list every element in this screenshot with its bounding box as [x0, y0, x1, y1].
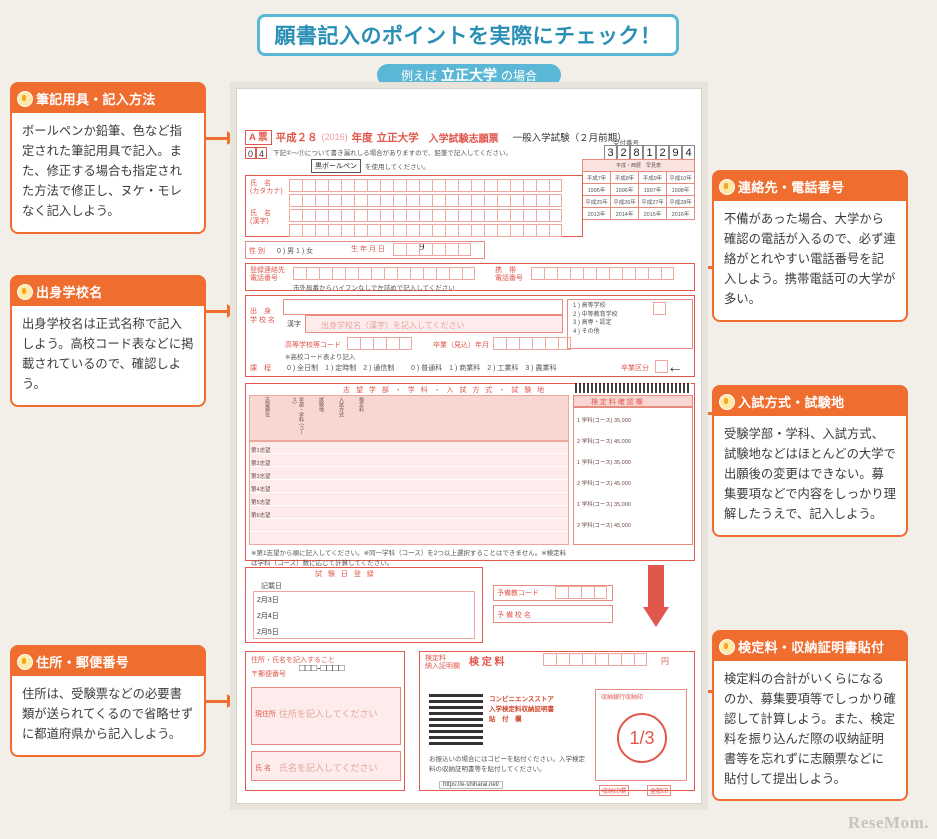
- note-exam-fee-body: 検定料の合計がいくらになるのか、募集要項等でしっかり確認して計算しよう。また、検…: [714, 661, 906, 799]
- page-title-banner: 願書記入のポイントを実際にチェック！: [257, 14, 679, 56]
- dept-options: 0 ) 普通科 1 ) 商業科 2 ) 工業科 3 ) 農業科: [411, 363, 556, 373]
- stamp-foot-left: 収納印欄: [599, 785, 629, 796]
- connector-writing-tools: [206, 137, 228, 140]
- schedule-grid: [253, 591, 475, 639]
- name-kanji-cells-2: [289, 224, 562, 237]
- receipt-digit: 3: [604, 145, 617, 160]
- note-school-name-heading: 出身学校名: [36, 285, 103, 300]
- name-placeholder: 氏名を記入してください: [279, 761, 377, 774]
- form-code-cells: 0 4: [245, 147, 267, 159]
- receipt-digit: 9: [669, 145, 682, 160]
- area-code-label: 予備教コード: [497, 588, 539, 598]
- selection-header-dept: 学部・学科 (コース): [271, 397, 305, 439]
- school-kind-options: 1 ) 高等学校2 ) 中等教育学校3 ) 高専・認定4 ) その他: [573, 302, 618, 337]
- form-ticket-label: A 票: [245, 130, 272, 145]
- era-cell: 2014年: [611, 208, 639, 220]
- note-school-name-header: 出身学校名: [12, 277, 204, 306]
- note-exam-method-header: 入試方式・試験地: [714, 387, 906, 416]
- name-kana-cells: [289, 179, 562, 192]
- form-western-year: (2016): [322, 132, 348, 142]
- conveni-note: お振込いの場合にはコピーを貼付ください。入学検定料の収納証明書等を貼付してくださ…: [429, 755, 589, 775]
- note-exam-fee: 検定料・収納証明書貼付 検定料の合計がいくらになるのか、募集要項等でしっかり確認…: [712, 630, 908, 801]
- era-year-table: 平成・西暦 早見表 平成7年平成8年平成9年平成10年 1995年1996年19…: [582, 159, 695, 220]
- bulb-icon: [719, 639, 735, 655]
- name-kanji-label: 氏 名(漢字): [250, 210, 284, 227]
- stamp-foot-right: 金額印: [647, 785, 671, 796]
- gender-options: 0 ) 男 1 ) 女: [277, 246, 313, 256]
- note-exam-method-heading: 入試方式・試験地: [738, 395, 844, 410]
- zip-mask: □□□-□□□□: [299, 663, 345, 674]
- selection-header-cells: 志望順位 学部・学科 (コース) 試験地 入試方式 検定料: [251, 397, 569, 439]
- note-address-zip-header: 住所・郵便番号: [12, 647, 204, 676]
- flow-arrow-icon: [643, 565, 669, 627]
- note-exam-fee-heading: 検定料・収納証明書貼付: [738, 640, 884, 655]
- era-cell: 平成25年: [583, 196, 611, 208]
- name-kana-label: 氏 名(カタカナ): [250, 180, 284, 197]
- era-cell: 平成10年: [667, 172, 695, 184]
- receipt-digit: 8: [630, 145, 643, 160]
- bulb-icon: [719, 394, 735, 410]
- fee-row: 1 学科(コース) 35,000: [577, 411, 691, 432]
- gender-label: 性 別: [249, 246, 265, 256]
- schedule-date: 2月5日: [257, 625, 279, 641]
- address-placeholder: 住所を記入してください: [279, 707, 377, 720]
- school-kind-cells: [653, 302, 666, 315]
- note-address-zip-body: 住所は、受験票などの必要書類が送られてくるので省略せずに都道府県から記入しよう。: [12, 676, 204, 755]
- phone-cells: [293, 267, 475, 280]
- page-title: 願書記入のポイントを実際にチェック！: [275, 20, 662, 50]
- form-pen-note-suffix: を使用してください。: [365, 161, 430, 171]
- subtitle-prefix: 例えば: [401, 67, 437, 84]
- area-name-label: 予 備 校 名: [497, 610, 531, 620]
- fee-row: 2 学科(コース) 45,000: [577, 516, 691, 537]
- bulb-icon: [17, 654, 33, 670]
- mobile-label: 携 帯電話番号: [495, 267, 527, 284]
- qr-code-icon: [429, 691, 483, 745]
- area-code-cells: [555, 586, 607, 599]
- conveni-title: コンビニエンスストア入学検定料収納証明書貼 付 欄: [489, 695, 589, 724]
- note-contact-phone-header: 連絡先・電話番号: [714, 172, 906, 201]
- school-label: 出 身学 校 名: [250, 307, 278, 325]
- grad-label: 卒業（見込）年月: [433, 340, 489, 350]
- watermark: ReseMom.: [848, 813, 929, 833]
- course-options: 0 ) 全日制 1 ) 定時制 2 ) 通信制: [287, 363, 394, 373]
- phone-label: 登録連絡先電話番号: [250, 267, 290, 284]
- form-year-suffix: 年度: [352, 130, 373, 145]
- form-university: 立正大学: [377, 130, 419, 145]
- payment-title: 検定料納入証明欄: [425, 655, 465, 672]
- era-cell: 1998年: [667, 184, 695, 196]
- form-inner: A 票 平成２８ (2016) 年度 立正大学 入学試験志願票 一般入学試験（２…: [243, 95, 697, 799]
- note-contact-phone-heading: 連絡先・電話番号: [738, 180, 844, 195]
- name-kanji-cells: [289, 209, 562, 222]
- note-writing-tools: 筆記用具・記入方法 ボールペンか鉛筆、色など指定された筆記用具で記入。また、修正…: [10, 82, 206, 234]
- era-table-header: 平成・西暦 早見表: [583, 160, 695, 172]
- bulb-icon: [719, 179, 735, 195]
- connector-school-name: [206, 310, 228, 313]
- note-address-zip-heading: 住所・郵便番号: [36, 655, 129, 670]
- era-cell: 平成8年: [611, 172, 639, 184]
- schedule-date: 2月3日: [257, 593, 279, 609]
- era-cell: 平成27年: [639, 196, 667, 208]
- phone-hint: 市外局番からハイフンなしで左詰めで記入してください: [293, 282, 455, 292]
- birth-cells: [393, 243, 471, 256]
- selection-header-fee: 検定料: [345, 397, 365, 439]
- school-code-hint: ※高校コード表より記入: [285, 351, 355, 361]
- receipt-digit: 1: [643, 145, 656, 160]
- payment-amount-cells: [543, 653, 647, 666]
- school-code-cells: [347, 337, 412, 350]
- form-doc-title: 入学試験志願票: [429, 130, 499, 145]
- namefield-label: 氏 名: [255, 763, 271, 773]
- selection-header-site: 試験地: [305, 397, 325, 439]
- payment-sub: 検 定 料: [469, 653, 505, 668]
- form-era-year: 平成２８: [276, 130, 318, 145]
- note-address-zip: 住所・郵便番号 住所は、受験票などの必要書類が送られてくるので省略せずに都道府県…: [10, 645, 206, 757]
- page-root: 願書記入のポイントを実際にチェック！ 例えば 立正大学 の場合 筆記用具・記入方…: [0, 0, 937, 839]
- selection-header-method: 入試方式: [325, 397, 345, 439]
- school-kana-field: [283, 299, 563, 315]
- era-cell: 1997年: [639, 184, 667, 196]
- subtitle-pill: 例えば 立正大学 の場合: [377, 64, 561, 86]
- note-school-name-body: 出身学校名は正式名称で記入しよう。高校コード表などに掲載されているので、確認しよ…: [12, 306, 204, 405]
- selection-grid: [249, 441, 569, 545]
- grad-kind-label: 卒業区分: [621, 363, 649, 373]
- stamp-value: 1/3: [617, 713, 667, 763]
- receipt-digit: 2: [617, 145, 630, 160]
- payment-unit: 円: [661, 656, 669, 667]
- era-cell: 平成7年: [583, 172, 611, 184]
- name-kana-cells-2: [289, 194, 562, 207]
- selection-grid-cells: [249, 441, 569, 545]
- fee-row: 1 学科(コース) 35,000: [577, 453, 691, 474]
- form-exam-type: 一般入学試験（２月前期）: [513, 130, 627, 144]
- receipt-digit: 2: [656, 145, 669, 160]
- era-cell: 1996年: [611, 184, 639, 196]
- subtitle-suffix: の場合: [501, 67, 537, 84]
- school-placeholder: 出身学校名（漢字）を記入してください: [321, 320, 465, 331]
- era-cell: 平成28年: [667, 196, 695, 208]
- address-label: 現住所: [255, 709, 276, 719]
- receipt-digit: 4: [682, 145, 695, 160]
- schedule-title: 試 験 日 登 録: [315, 569, 376, 579]
- school-code-label: 高等学校等コード: [285, 340, 341, 350]
- note-contact-phone-body: 不備があった場合、大学から確認の電話が入るので、必ず連絡がとれやすい電話番号を記…: [714, 201, 906, 320]
- era-cell: 平成26年: [611, 196, 639, 208]
- fee-row: 2 学科(コース) 45,000: [577, 474, 691, 495]
- grad-cells: [493, 337, 571, 350]
- form-receipt-number: 3 2 8 1 2 9 4: [604, 145, 695, 160]
- mobile-cells: [531, 267, 674, 280]
- bulb-icon: [17, 91, 33, 107]
- school-kanji-label: 漢字: [287, 319, 301, 329]
- selection-row-labels: 第1志望第2志望第3志望第4志望第5志望第6志望: [251, 445, 271, 523]
- note-school-name: 出身学校名 出身学校名は正式名称で記入しよう。高校コード表などに掲載されているの…: [10, 275, 206, 407]
- era-cell: 1995年: [583, 184, 611, 196]
- return-arrow-icon: ←: [667, 359, 683, 377]
- barcode: [575, 383, 691, 393]
- application-form-sheet: A 票 平成２８ (2016) 年度 立正大学 入学試験志願票 一般入学試験（２…: [236, 88, 702, 804]
- era-cell: 2015年: [639, 208, 667, 220]
- code-cell-1: 4: [256, 147, 267, 159]
- note-exam-method-body: 受験学部・学科、入試方式、試験地などはほとんどの大学で出願後の変更はできない。募…: [714, 416, 906, 535]
- note-writing-tools-body: ボールペンか鉛筆、色など指定された筆記用具で記入。また、修正する場合も指定された…: [12, 113, 204, 232]
- note-writing-tools-header: 筆記用具・記入方法: [12, 84, 204, 113]
- fee-row: 1 学科(コース) 35,000: [577, 495, 691, 516]
- schedule-dates: 2月3日 2月4日 2月5日: [257, 593, 279, 641]
- note-writing-tools-heading: 筆記用具・記入方法: [36, 92, 156, 107]
- note-contact-phone: 連絡先・電話番号 不備があった場合、大学から確認の電話が入るので、必ず連絡がとれ…: [712, 170, 908, 322]
- note-exam-method: 入試方式・試験地 受験学部・学科、入試方式、試験地などはほとんどの大学で出願後の…: [712, 385, 908, 537]
- schedule-date: 2月4日: [257, 609, 279, 625]
- birth-label: 生 年 月 日: [351, 244, 385, 254]
- zip-label: 〒郵便番号: [251, 669, 286, 679]
- course-label: 課 程: [250, 363, 271, 373]
- fee-panel-title: 検 定 料 確 認 欄: [591, 397, 643, 407]
- note-exam-fee-header: 検定料・収納証明書貼付: [714, 632, 906, 661]
- bulb-icon: [17, 284, 33, 300]
- connector-address-zip: [206, 700, 228, 703]
- selection-footnote: ※第1志望から順に記入してください。※同一学科（コース）を2つ以上選択することは…: [251, 547, 569, 567]
- era-cell: 2013年: [583, 208, 611, 220]
- fee-row: 2 学科(コース) 45,000: [577, 432, 691, 453]
- stamp-label: 収納銀行収納印: [601, 692, 643, 701]
- selection-header-rank: 志望順位: [251, 397, 271, 439]
- fee-rows: 1 学科(コース) 35,000 2 学科(コース) 45,000 1 学科(コ…: [577, 411, 691, 537]
- era-cell: 2016年: [667, 208, 695, 220]
- code-cell-0: 0: [245, 147, 256, 159]
- selection-title: 志 望 学 部 ・ 学 科 ・ 入 試 方 式 ・ 試 験 地: [343, 385, 546, 395]
- form-pen-note: 黒ボールペン: [311, 159, 361, 173]
- schedule-label: 記載日: [261, 581, 282, 591]
- subtitle-university: 立正大学: [441, 65, 497, 85]
- conveni-url: https://e-shiharai.net/: [439, 781, 503, 789]
- era-cell: 平成9年: [639, 172, 667, 184]
- form-notice-left: 下記①～⑪について書き漏れしる場合がありますので、鉛筆で記入してください。: [273, 147, 523, 157]
